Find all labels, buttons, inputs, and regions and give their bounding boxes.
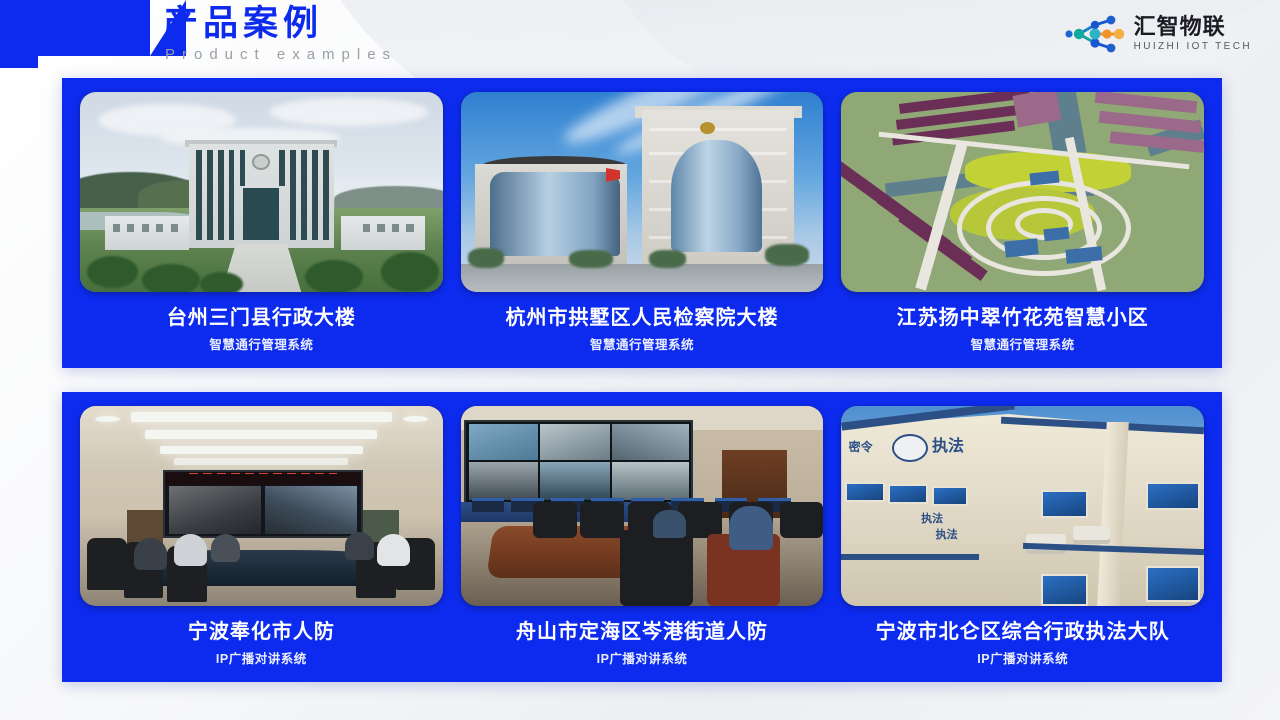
case-card[interactable]: 宁波奉化市人防 IP广播对讲系统: [80, 406, 443, 674]
brand-logo: 汇智物联 HUIZHI IOT TECH: [1064, 14, 1252, 54]
page-subtitle: Product examples: [165, 46, 397, 64]
case-card-subtitle: 智慧通行管理系统: [971, 337, 1075, 353]
government-building-photo: [80, 92, 443, 292]
procuratorate-building-photo: [461, 92, 824, 292]
case-card[interactable]: 密令 执法 执法 执法 宁波市北: [841, 406, 1204, 674]
command-center-photo: [461, 406, 824, 606]
case-panel-row-2: 宁波奉化市人防 IP广播对讲系统: [62, 392, 1222, 682]
case-card-subtitle: IP广播对讲系统: [216, 651, 307, 667]
brand-name-cn: 汇智物联: [1134, 15, 1252, 39]
case-card[interactable]: 江苏扬中翠竹花苑智慧小区 智慧通行管理系统: [841, 92, 1204, 360]
case-card[interactable]: 舟山市定海区岑港街道人防 IP广播对讲系统: [461, 406, 824, 674]
case-card-title: 江苏扬中翠竹花苑智慧小区: [897, 306, 1149, 330]
case-card-title: 舟山市定海区岑港街道人防: [516, 620, 768, 644]
case-card[interactable]: 台州三门县行政大楼 智慧通行管理系统: [80, 92, 443, 360]
brand-name-en: HUIZHI IOT TECH: [1134, 40, 1252, 54]
enforcement-building-photo: 密令 执法 执法 执法: [841, 406, 1204, 606]
page-title: 产品案例: [163, 2, 397, 46]
case-card-subtitle: IP广播对讲系统: [597, 651, 688, 667]
case-panel-row-1: 台州三门县行政大楼 智慧通行管理系统: [62, 78, 1222, 368]
case-card-subtitle: IP广播对讲系统: [977, 651, 1068, 667]
aerial-residential-district-photo: [841, 92, 1204, 292]
case-card-title: 宁波市北仑区综合行政执法大队: [876, 620, 1170, 644]
header-accent-bar: [0, 56, 38, 68]
card-grid-row-1: 台州三门县行政大楼 智慧通行管理系统: [62, 78, 1222, 368]
conference-room-photo: [80, 406, 443, 606]
case-card-subtitle: 智慧通行管理系统: [209, 337, 313, 353]
case-card-title: 宁波奉化市人防: [188, 620, 335, 644]
header-accent-shape: [0, 0, 150, 56]
molecule-network-icon: [1064, 14, 1126, 54]
card-grid-row-2: 宁波奉化市人防 IP广播对讲系统: [62, 392, 1222, 682]
case-card-title: 台州三门县行政大楼: [167, 306, 356, 330]
page-header: 产品案例 Product examples 汇智物联 HUIZHI IOT TE…: [0, 0, 1280, 68]
case-card[interactable]: 杭州市拱墅区人民检察院大楼 智慧通行管理系统: [461, 92, 824, 360]
case-card-subtitle: 智慧通行管理系统: [590, 337, 694, 353]
case-card-title: 杭州市拱墅区人民检察院大楼: [506, 306, 779, 330]
header-title-group: 产品案例 Product examples: [163, 2, 397, 64]
brand-logo-text: 汇智物联 HUIZHI IOT TECH: [1134, 15, 1252, 54]
